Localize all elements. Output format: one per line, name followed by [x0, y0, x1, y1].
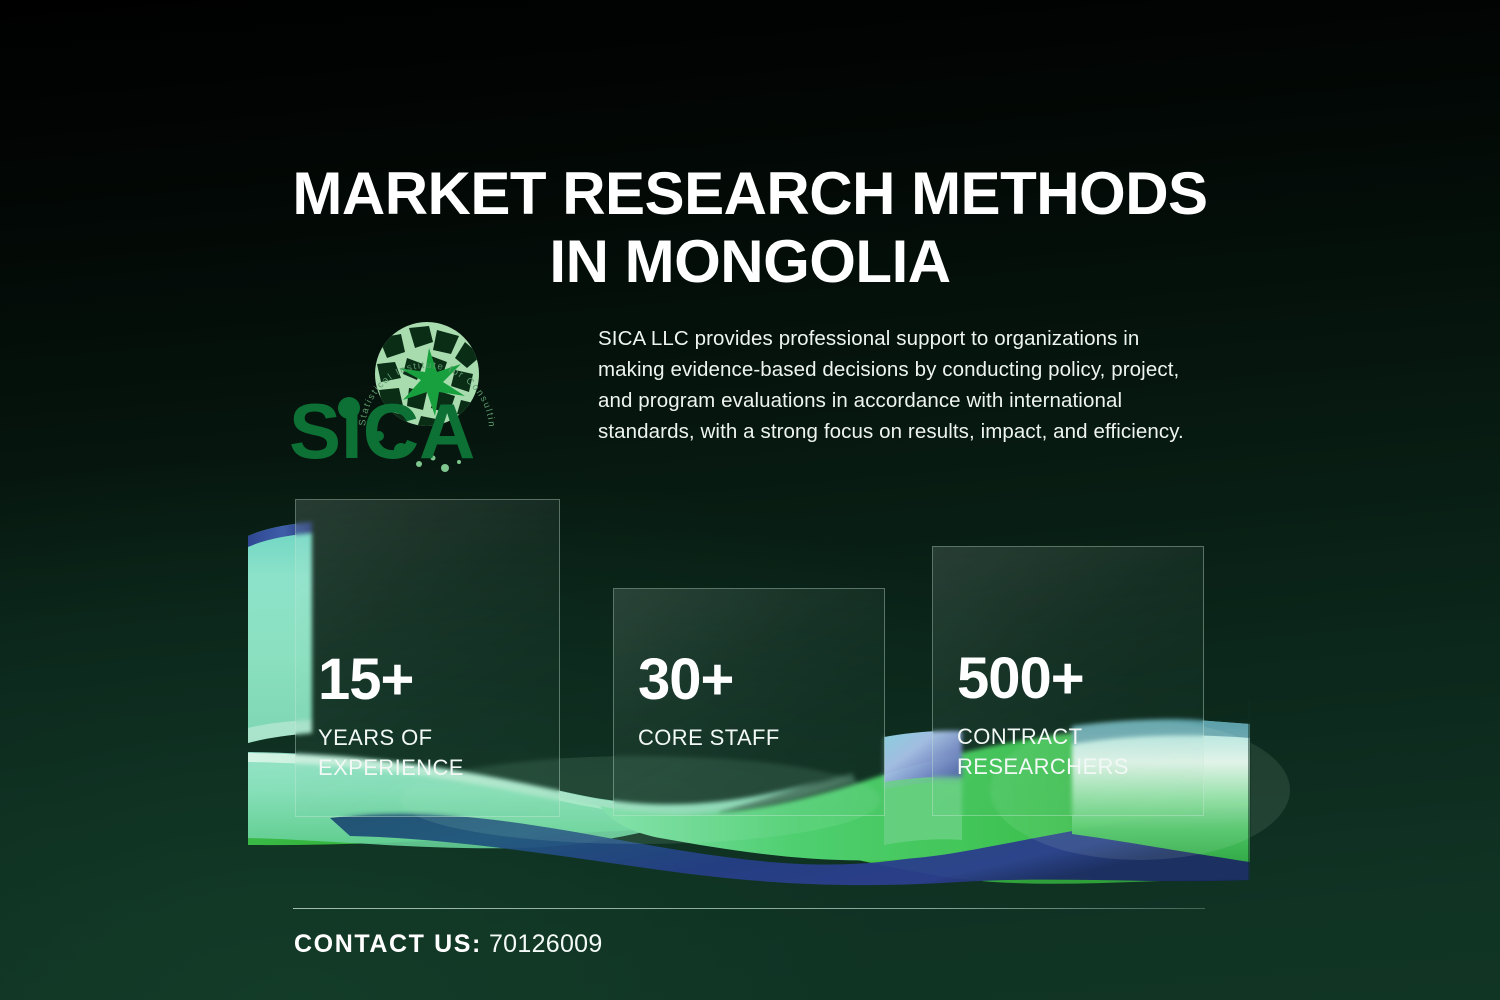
contact-info: CONTACT US: 70126009 — [294, 930, 603, 959]
stat-label: CONTRACT RESEARCHERS — [957, 722, 1129, 782]
stat-label: YEARS OF EXPERIENCE — [318, 723, 464, 783]
stat-card-core-staff: 30+ CORE STAFF — [613, 588, 885, 816]
contact-label: CONTACT US: — [294, 930, 482, 959]
title-line-2: IN MONGOLIA — [255, 228, 1245, 296]
page-title: MARKET RESEARCH METHODS IN MONGOLIA — [255, 160, 1245, 296]
title-line-1: MARKET RESEARCH METHODS — [255, 160, 1245, 228]
stat-card-contract-researchers: 500+ CONTRACT RESEARCHERS — [932, 546, 1204, 816]
stat-number: 500+ — [957, 650, 1129, 708]
stat-label: CORE STAFF — [638, 723, 780, 753]
logo-wordmark: SICA — [289, 387, 475, 475]
sica-globe-logo-icon: Statistical Institute for Consulting and… — [283, 312, 531, 487]
contact-phone-number[interactable]: 70126009 — [489, 930, 603, 959]
stat-number: 30+ — [638, 651, 780, 709]
poster-canvas: MARKET RESEARCH METHODS IN MONGOLIA — [0, 0, 1500, 1000]
stat-card-years-of-experience: 15+ YEARS OF EXPERIENCE — [295, 499, 560, 817]
footer-divider — [293, 908, 1205, 909]
stat-number: 15+ — [318, 651, 464, 709]
sica-logo: Statistical Institute for Consulting and… — [283, 312, 531, 487]
background-wave-artwork — [0, 0, 1500, 1000]
intro-paragraph: SICA LLC provides professional support t… — [598, 323, 1198, 447]
